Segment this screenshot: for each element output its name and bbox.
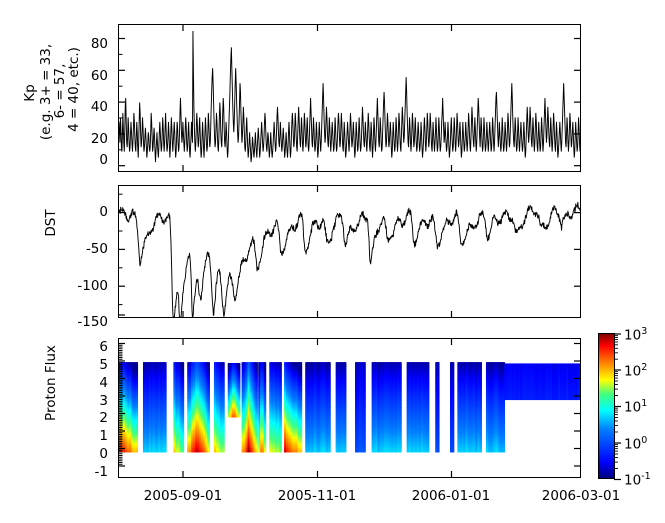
xtick-label-1: 2005-11-01 bbox=[257, 489, 377, 503]
proton-ytick-0: 0 bbox=[84, 448, 108, 462]
kp-ytick-0: 0 bbox=[76, 154, 108, 168]
colorbar-tick-10: 101 bbox=[624, 397, 647, 415]
dst-ytick-m100: -100 bbox=[68, 280, 108, 294]
kp-ytick-40: 40 bbox=[76, 101, 108, 115]
colorbar-exponent-2: 1 bbox=[641, 398, 647, 409]
colorbar-exponent-4: 3 bbox=[641, 326, 647, 337]
kp-ytick-20: 20 bbox=[76, 133, 108, 147]
dst-ytick-m50: -50 bbox=[68, 243, 108, 257]
proton-spectrogram-svg bbox=[119, 339, 580, 477]
proton-axis-title-text: Proton Flux bbox=[43, 345, 59, 421]
proton-plot-area bbox=[119, 339, 580, 477]
kp-series-svg bbox=[119, 25, 580, 171]
colorbar-mantissa-3: 10 bbox=[624, 364, 641, 380]
kp-plot-area bbox=[119, 25, 580, 171]
xtick-label-2: 2006-01-01 bbox=[391, 489, 511, 503]
kp-ytick-60: 60 bbox=[76, 70, 108, 84]
proton-ytick-6: 6 bbox=[84, 341, 108, 355]
dst-series-svg bbox=[119, 186, 580, 317]
colorbar-tick-1000: 103 bbox=[624, 325, 647, 343]
proton-ytick-5: 5 bbox=[84, 359, 108, 373]
proton-ytick-4: 4 bbox=[84, 377, 108, 391]
colorbar-exponent-0: -1 bbox=[641, 471, 650, 482]
proton-axis-title: Proton Flux bbox=[44, 318, 59, 448]
dst-data-line bbox=[119, 202, 580, 317]
proton-ytick-m1: -1 bbox=[80, 466, 108, 480]
dst-ytick-m150: -150 bbox=[68, 316, 108, 330]
colorbar-tick-1: 100 bbox=[624, 434, 647, 452]
proton-flux-cells bbox=[119, 362, 580, 452]
dst-ytick-0: 0 bbox=[68, 206, 108, 220]
colorbar-tick-0p1: 10-1 bbox=[624, 470, 651, 488]
kp-axis-title-sub3: 4 = 40, etc.) bbox=[66, 7, 82, 172]
dst-axis-title-text: DST bbox=[43, 209, 59, 236]
colorbar-mantissa-0: 10 bbox=[624, 473, 641, 489]
kp-axis-title-line1: Kp bbox=[22, 84, 38, 101]
proton-ytick-3: 3 bbox=[84, 395, 108, 409]
kp-axis-title: Kp bbox=[22, 18, 38, 168]
dst-xaxis-ticks bbox=[183, 186, 452, 317]
proton-ytick-2: 2 bbox=[84, 412, 108, 426]
proton-ytick-1: 1 bbox=[84, 430, 108, 444]
colorbar-tick-100: 102 bbox=[624, 361, 647, 379]
colorbar-mantissa-1: 10 bbox=[624, 437, 641, 453]
colorbar-mantissa-2: 10 bbox=[624, 400, 641, 416]
colorbar-mantissa-4: 10 bbox=[624, 328, 641, 344]
kp-data-line bbox=[119, 31, 580, 162]
dst-axis-title: DST bbox=[44, 173, 59, 273]
solar-geomagnetic-figure: Kp (e.g. 3+ = 33, 6- = 57, 4 = 40, etc.)… bbox=[0, 0, 665, 523]
kp-ytick-80: 80 bbox=[76, 38, 108, 52]
dst-plot-area bbox=[119, 186, 580, 317]
colorbar-exponent-1: 0 bbox=[641, 435, 647, 446]
xtick-label-0: 2005-09-01 bbox=[123, 489, 243, 503]
colorbar-exponent-3: 2 bbox=[641, 362, 647, 373]
xtick-label-3: 2006-03-01 bbox=[521, 489, 641, 503]
colorbar bbox=[598, 333, 615, 479]
kp-axis-title-line4: 4 = 40, etc.) bbox=[66, 47, 82, 132]
